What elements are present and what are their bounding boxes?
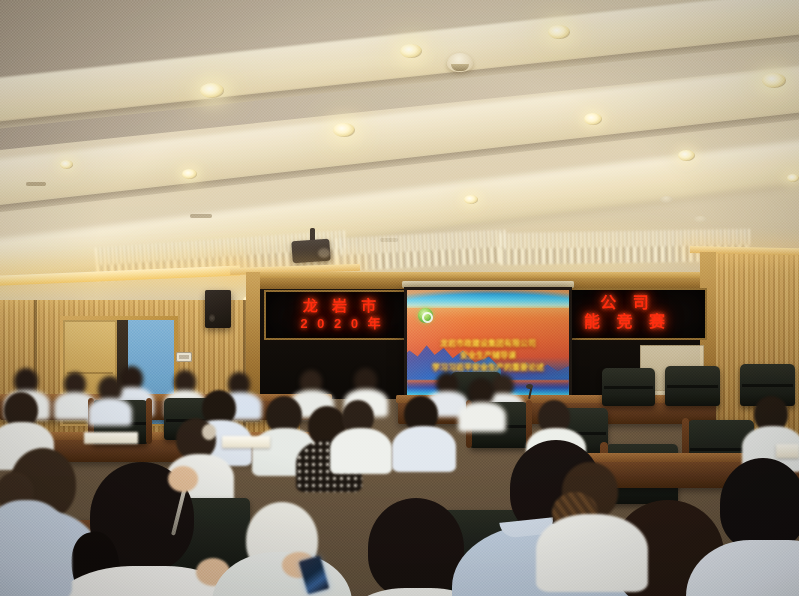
downlight bbox=[464, 195, 478, 204]
led-right-line2: 能 竞 赛 bbox=[584, 315, 671, 332]
downlight bbox=[787, 174, 799, 182]
desk-paper bbox=[776, 444, 799, 458]
led-banner-left: 龙 岩 市 2 0 2 0 年 bbox=[264, 290, 420, 340]
chair-backrest-split bbox=[742, 384, 793, 387]
downlight bbox=[762, 73, 786, 88]
chair-backrest-split bbox=[667, 385, 718, 388]
desk-paper bbox=[222, 436, 270, 448]
downlight bbox=[200, 83, 224, 98]
desk-paper bbox=[84, 432, 138, 444]
ceiling-vent bbox=[190, 214, 212, 218]
chair-wood-arm bbox=[146, 398, 152, 444]
downlight bbox=[548, 25, 570, 39]
smoke-detector-icon bbox=[694, 216, 707, 223]
led-right-line1: 公 司 bbox=[600, 296, 654, 313]
downlight bbox=[333, 123, 355, 137]
downlight bbox=[584, 113, 602, 125]
led-left-line2: 2 0 2 0 年 bbox=[300, 317, 383, 331]
downlight bbox=[678, 150, 695, 161]
led-left-line1: 龙 岩 市 bbox=[303, 299, 381, 315]
hand bbox=[168, 466, 198, 492]
conference-hall-photo: 龙 岩 市 2 0 2 0 年 公 司 能 竞 赛 龙岩市政建设集团有限公司 安… bbox=[0, 0, 799, 596]
smoke-detector-icon bbox=[660, 196, 673, 203]
wall-speaker bbox=[205, 290, 231, 328]
light-switch-plate[interactable] bbox=[176, 352, 192, 362]
microphone-head-icon bbox=[526, 384, 533, 389]
downlight bbox=[60, 160, 73, 169]
downlight bbox=[400, 44, 422, 58]
ceiling-projector-lens bbox=[318, 248, 330, 258]
smoke-detector-icon bbox=[447, 53, 473, 72]
downlight bbox=[182, 169, 197, 179]
hair-clip bbox=[202, 424, 216, 440]
ceiling-vent bbox=[26, 182, 46, 186]
chair-backrest-split bbox=[604, 386, 653, 389]
stage-header-beam-highlight bbox=[246, 272, 716, 278]
